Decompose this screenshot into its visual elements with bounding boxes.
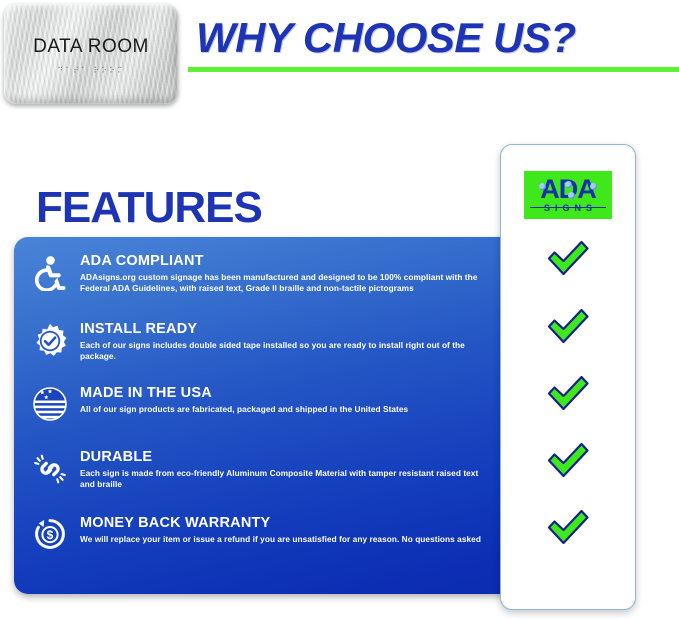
feature-row-ada-compliant: ADA COMPLIANT ADAsigns.org custom signag… <box>24 253 494 294</box>
feature-heading: INSTALL READY <box>80 321 494 338</box>
dollar-refund-icon: $ <box>24 515 76 551</box>
sign-braille: ⠙⠁⠞⠁ ⠗⠕⠕⠍ <box>4 66 178 75</box>
features-title: FEATURES <box>36 183 262 233</box>
wheelchair-accessibility-icon <box>24 253 76 291</box>
feature-heading: MONEY BACK WARRANTY <box>80 515 494 532</box>
checkmark-icon <box>545 306 591 346</box>
data-room-sign-plate: DATA ROOM ⠙⠁⠞⠁ ⠗⠕⠕⠍ <box>4 4 178 104</box>
feature-body: Each of our signs includes double sided … <box>80 340 494 362</box>
gear-check-icon <box>24 321 76 359</box>
feature-body: ADAsigns.org custom signage has been man… <box>80 272 494 294</box>
feature-heading: ADA COMPLIANT <box>80 253 494 270</box>
checklist-card: ADA SIGNS <box>500 144 636 610</box>
feature-heading: DURABLE <box>80 449 494 466</box>
feature-text: ADA COMPLIANT ADAsigns.org custom signag… <box>76 253 494 294</box>
svg-text:$: $ <box>47 528 54 542</box>
logo-dot <box>590 183 597 190</box>
feature-row-durable: DURABLE Each sign is made from eco-frien… <box>24 449 494 490</box>
broken-chain-link-icon <box>24 449 76 487</box>
checkmark-icon <box>545 440 591 480</box>
checkmark-icon <box>545 373 591 413</box>
feature-row-install-ready: INSTALL READY Each of our signs includes… <box>24 321 494 362</box>
checkmark-icon <box>545 238 591 278</box>
feature-body: We will replace your item or issue a ref… <box>80 534 494 545</box>
logo-dot <box>568 192 575 199</box>
usa-flag-circle-icon <box>24 385 76 421</box>
feature-text: MADE IN THE USA All of our sign products… <box>76 385 494 415</box>
feature-heading: MADE IN THE USA <box>80 385 494 402</box>
feature-row-made-in-usa: MADE IN THE USA All of our sign products… <box>24 385 494 421</box>
feature-row-money-back-warranty: $ MONEY BACK WARRANTY We will replace yo… <box>24 515 494 551</box>
feature-body: Each sign is made from eco-friendly Alum… <box>80 468 494 490</box>
feature-body: All of our sign products are fabricated,… <box>80 404 494 415</box>
feature-text: INSTALL READY Each of our signs includes… <box>76 321 494 362</box>
promo-graphic: DATA ROOM ⠙⠁⠞⠁ ⠗⠕⠕⠍ WHY CHOOSE US? FEATU… <box>0 0 679 619</box>
feature-text: MONEY BACK WARRANTY We will replace your… <box>76 515 494 545</box>
logo-signs-text: SIGNS <box>539 204 597 213</box>
logo-dot <box>539 183 546 190</box>
sign-label: DATA ROOM <box>4 36 178 58</box>
page-headline: WHY CHOOSE US? <box>196 14 576 62</box>
ada-signs-logo: ADA SIGNS <box>524 171 612 219</box>
checkmark-icon <box>545 507 591 547</box>
feature-text: DURABLE Each sign is made from eco-frien… <box>76 449 494 490</box>
headline-underline-rule <box>188 67 679 72</box>
logo-dot <box>565 181 572 188</box>
